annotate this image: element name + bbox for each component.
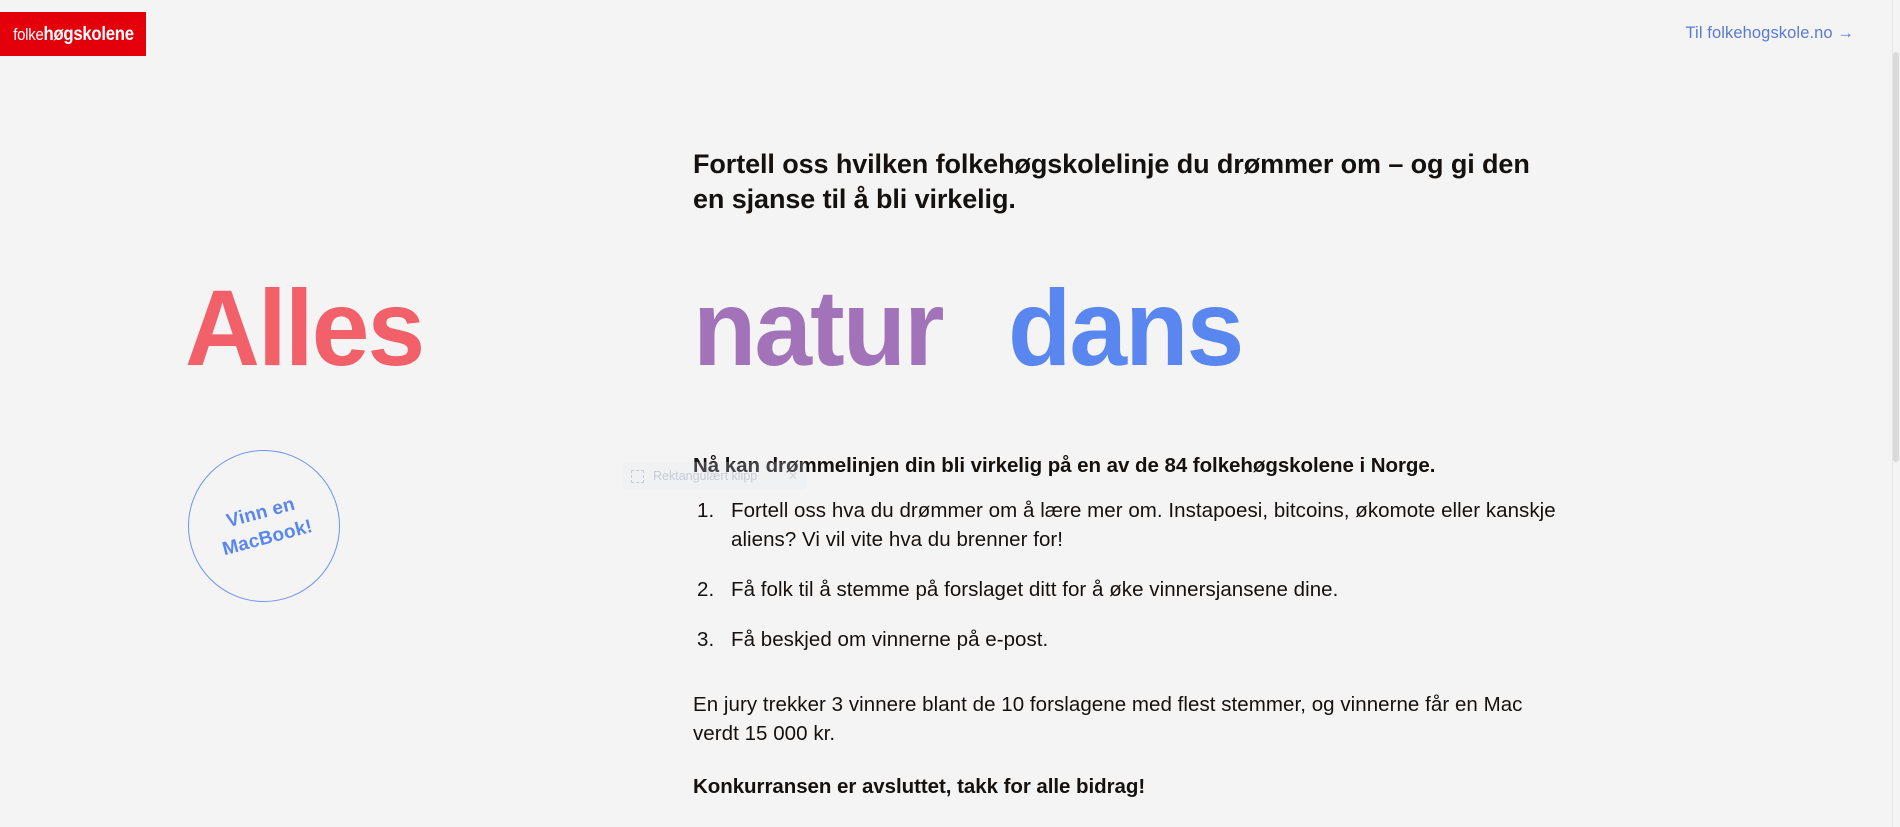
dream-word-alles[interactable]: Alles <box>185 274 423 382</box>
site-logo[interactable]: folkehøgskolene <box>0 12 146 56</box>
link-til-folkehogskole-no[interactable]: Til folkehogskole.no → <box>1685 24 1854 43</box>
closing-line: Konkurransen er avsluttet, takk for alle… <box>693 773 1553 802</box>
scrollbar-thumb[interactable] <box>1893 52 1899 462</box>
logo-wordmark: folkehøgskolene <box>13 25 134 44</box>
dream-words-row: Alles natur dans <box>0 274 1900 394</box>
top-bar: folkehøgskolene Til folkehogskole.no → <box>0 0 1900 68</box>
page-root: folkehøgskolene Til folkehogskole.no → F… <box>0 0 1900 827</box>
list-item: Få beskjed om vinnerne på e-post. <box>726 625 1606 654</box>
logo-light-part: folke <box>13 25 43 44</box>
page-lede: Fortell oss hvilken folkehøgskolelinje d… <box>693 147 1558 217</box>
jury-paragraph: En jury trekker 3 vinnere blant de 10 fo… <box>693 690 1558 748</box>
scrollbar-track[interactable] <box>1892 0 1900 827</box>
logo-bold-part: høgskolene <box>43 24 133 45</box>
intro-line: Nå kan drømmelinjen din bli virkelig på … <box>693 452 1553 481</box>
list-item: Fortell oss hva du drømmer om å lære mer… <box>726 496 1606 554</box>
rectangular-snip-icon <box>631 470 644 483</box>
steps-list: Fortell oss hva du drømmer om å lære mer… <box>693 496 1606 675</box>
dream-word-natur[interactable]: natur <box>693 274 943 382</box>
win-macbook-badge-label: Vinn en MacBook! <box>213 489 316 562</box>
dream-word-dans[interactable]: dans <box>1008 274 1242 382</box>
list-item: Få folk til å stemme på forslaget ditt f… <box>726 575 1606 604</box>
win-macbook-badge[interactable]: Vinn en MacBook! <box>188 450 340 602</box>
